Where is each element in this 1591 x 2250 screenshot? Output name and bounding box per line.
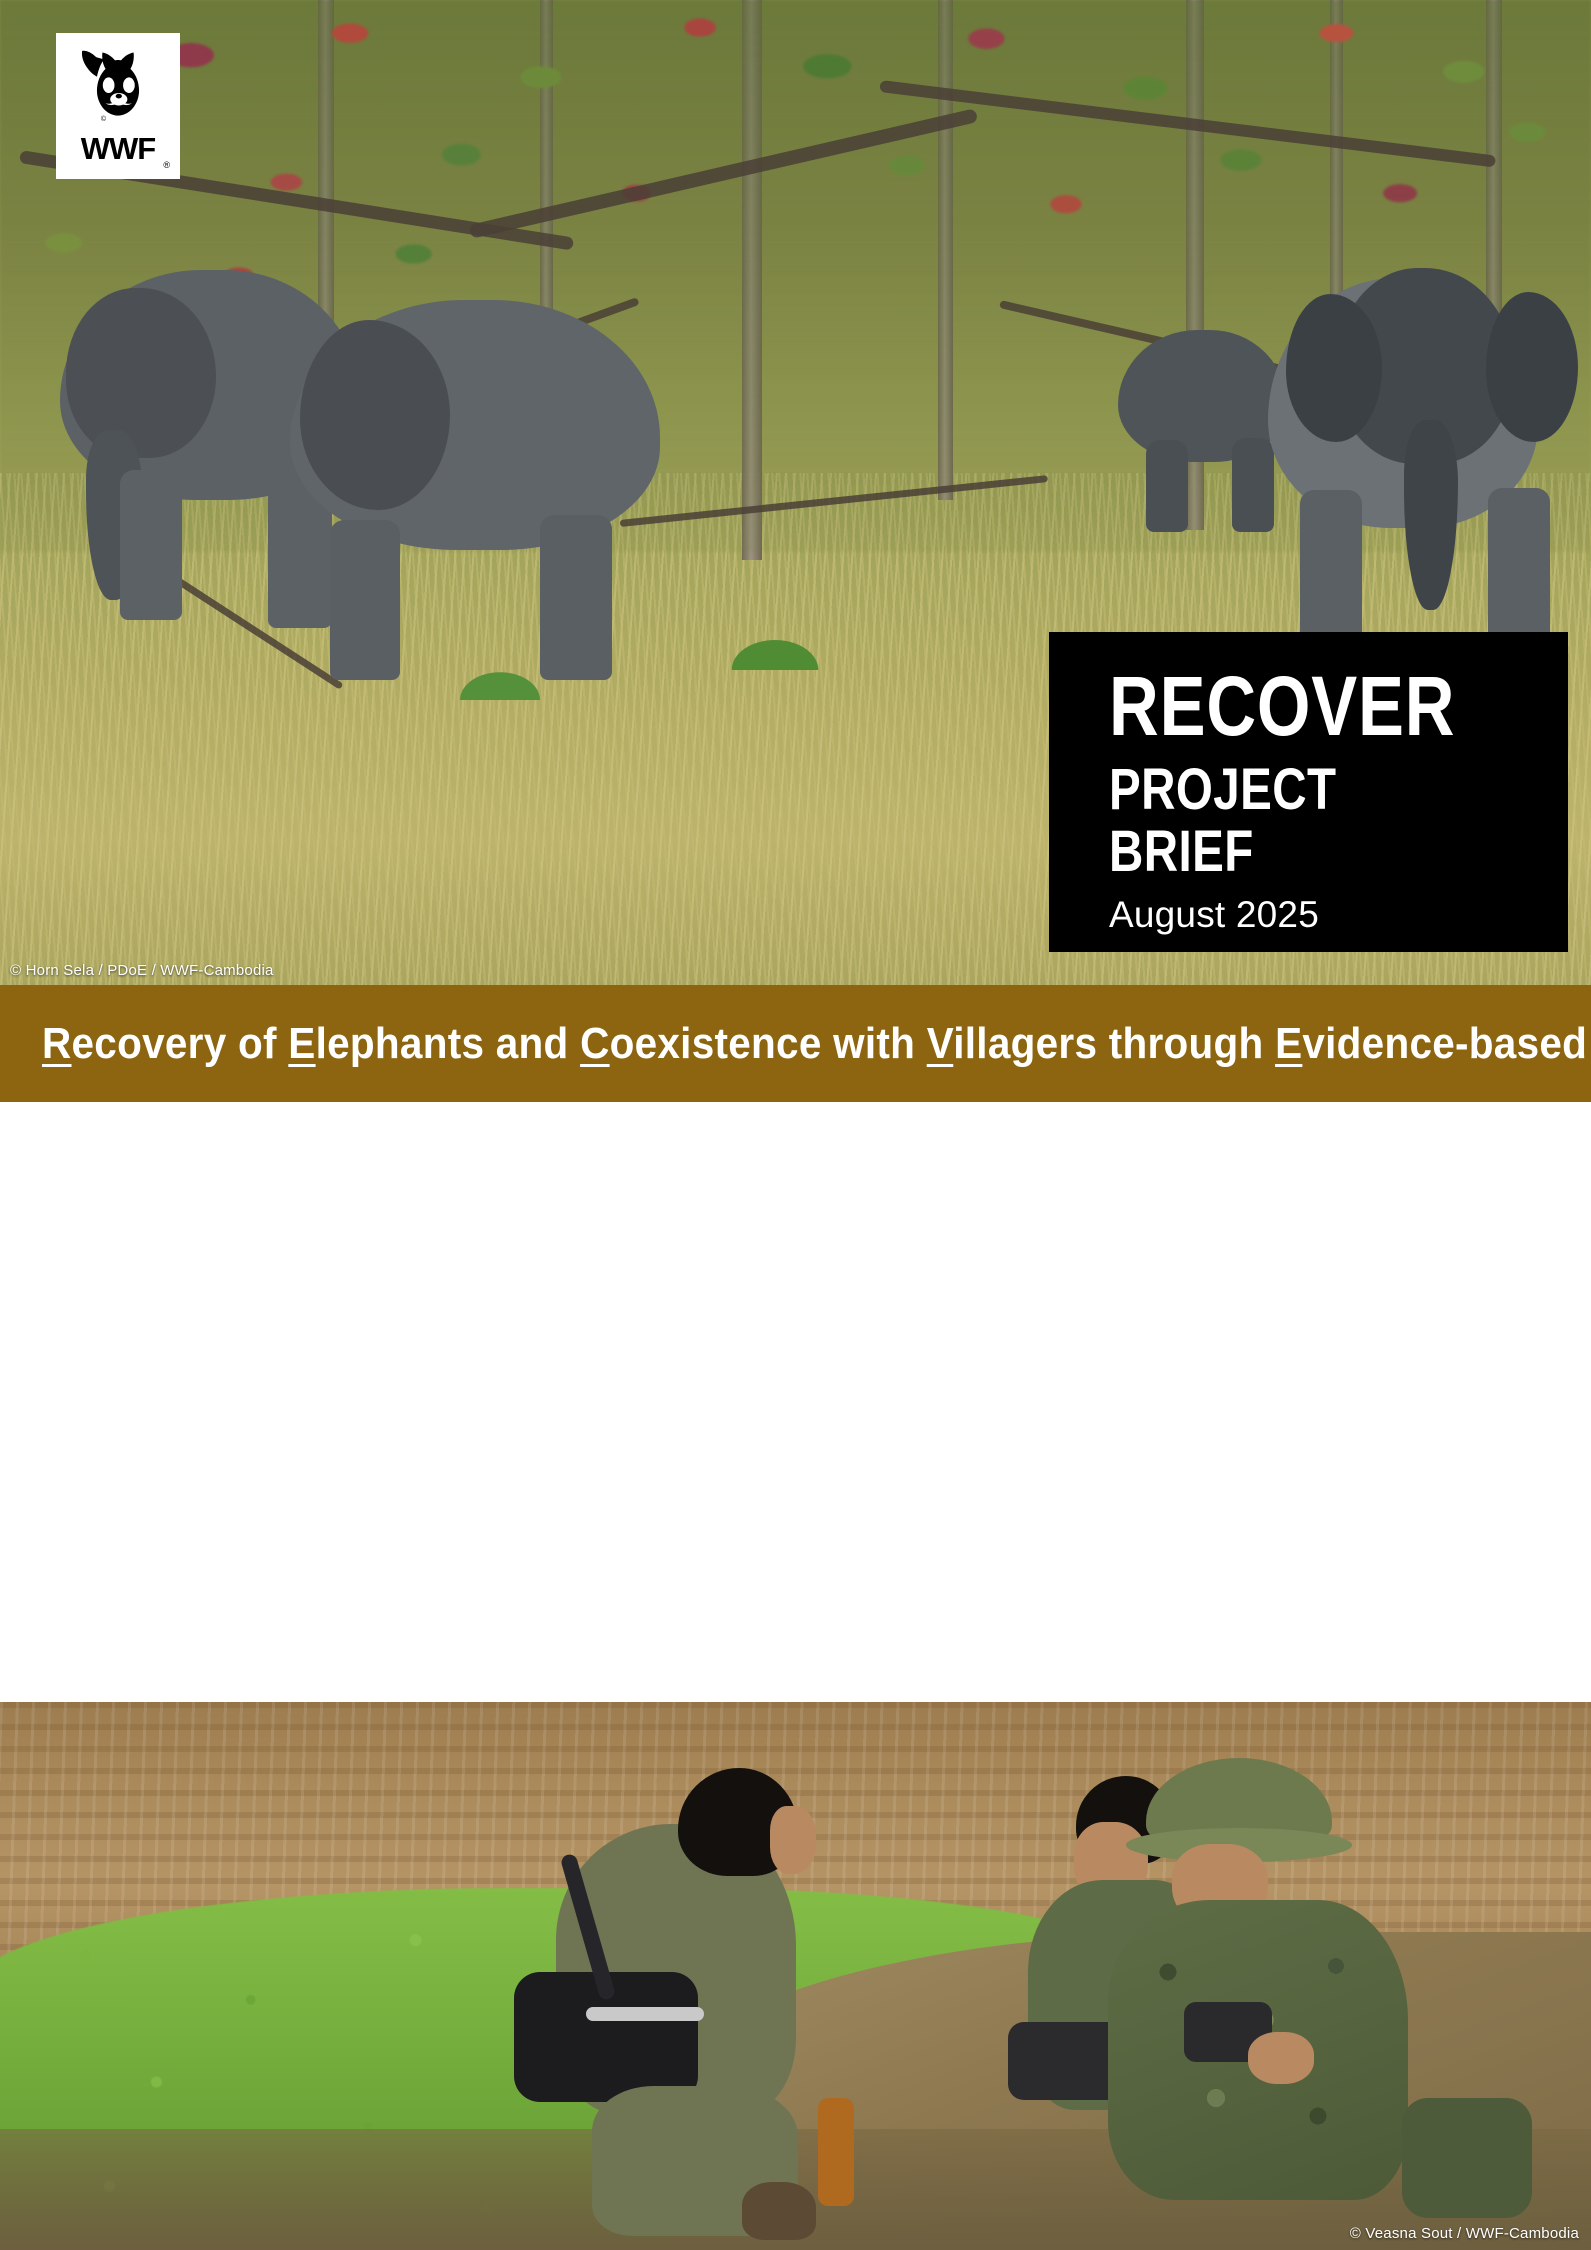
- acronym-part: Coexistence with: [580, 1019, 927, 1068]
- project-brief-page: © WWF ® © Horn Sela / PDoE / WWF-Cambodi…: [0, 0, 1591, 2250]
- title-block: RECOVER PROJECT BRIEF August 2025: [1049, 632, 1568, 952]
- bottom-photo-rangers: © Veasna Sout / WWF-Cambodia: [0, 1702, 1591, 2250]
- acronym-part: Evidence-based: [1275, 1019, 1591, 1068]
- project-title: RECOVER: [1109, 668, 1485, 745]
- acronym-banner: Recovery of Elephants and Coexistence wi…: [0, 985, 1591, 1102]
- wwf-logo: © WWF ®: [56, 33, 180, 179]
- acronym-initial: E: [1275, 1019, 1302, 1068]
- acronym-initial: R: [42, 1019, 72, 1068]
- document-date: August 2025: [1109, 894, 1568, 936]
- glance-objective-section: PROJECT AT A GLANCE: EASTERN PLAINS LAND…: [0, 1102, 1591, 1702]
- svg-text:©: ©: [101, 115, 107, 123]
- palm-frond: [700, 560, 850, 670]
- document-type: PROJECT BRIEF: [1109, 759, 1485, 882]
- wwf-wordmark: WWF: [81, 133, 155, 164]
- acronym-initial: C: [580, 1019, 610, 1068]
- acronym-initial: V: [927, 1019, 954, 1068]
- hero-photo-credit: © Horn Sela / PDoE / WWF-Cambodia: [10, 962, 274, 979]
- acronym-part: Villagers through: [927, 1019, 1275, 1068]
- acronym-part: Elephants and: [288, 1019, 580, 1068]
- acronym-part: Recovery of: [42, 1019, 288, 1068]
- hero-photo-elephants: © WWF ® © Horn Sela / PDoE / WWF-Cambodi…: [0, 0, 1591, 985]
- acronym-initial: E: [288, 1019, 315, 1068]
- palm-frond: [430, 600, 570, 700]
- registered-mark: ®: [163, 160, 170, 170]
- bottom-photo-credit: © Veasna Sout / WWF-Cambodia: [1350, 2225, 1579, 2242]
- acronym-banner-text: Recovery of Elephants and Coexistence wi…: [42, 1019, 1591, 1069]
- panda-icon: ©: [79, 40, 157, 132]
